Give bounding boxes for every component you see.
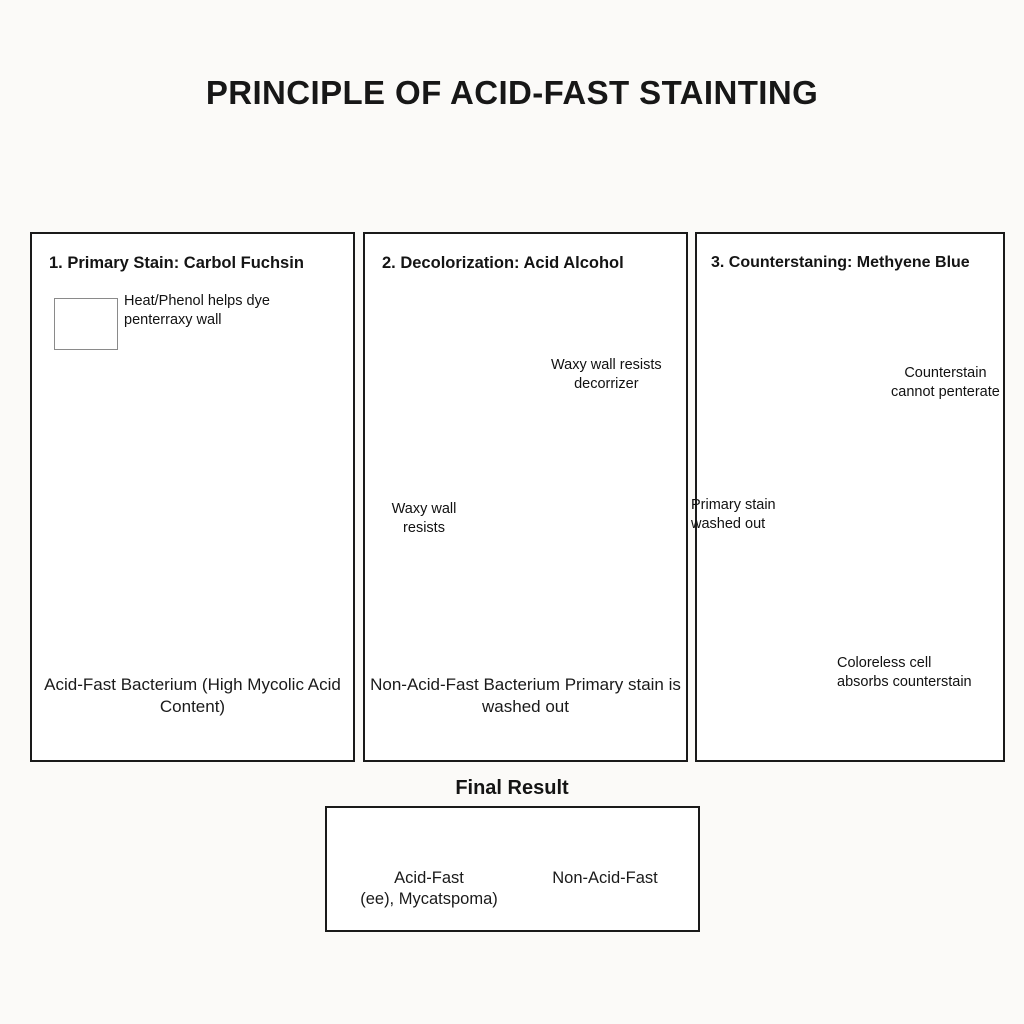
counterstain-cannot-penetrate-note: Counterstain cannot penterate [891,364,1000,402]
heat-phenol-icon-box [54,298,118,350]
heat-phenol-note: Heat/Phenol helps dye penterraxy wall [124,292,270,330]
panel-counterstaining[interactable]: 3. Counterstaning: Methyene Blue Counter… [695,232,1005,762]
waxy-wall-resists-note: Waxy wall resists [374,500,474,538]
colorless-cell-absorbs-counterstain-note: Coloreless cell absorbs counterstain [837,654,972,692]
final-acid-fast-label: Acid-Fast (ee), Mycatspoma) [339,868,519,911]
final-non-acid-fast-label: Non-Acid-Fast [517,868,693,889]
panel-1-title: 1. Primary Stain: Carbol Fuchsin [49,254,304,273]
final-result-title: Final Result [0,777,1024,800]
waxy-wall-resists-decolorizer-note: Waxy wall resists decorrizer [551,356,662,394]
panel-1-caption: Acid-Fast Bacterium (High Mycolic Acid C… [32,674,353,719]
panel-decolorization[interactable]: 2. Decolorization: Acid Alcohol Waxy wal… [363,232,688,762]
panel-2-caption: Non-Acid-Fast Bacterium Primary stain is… [365,674,686,719]
panel-2-title: 2. Decolorization: Acid Alcohol [382,254,624,273]
panel-3-title: 3. Counterstaning: Methyene Blue [711,254,970,272]
primary-stain-washed-out-note: Primary stain washed out [691,496,776,534]
final-result-box[interactable]: Acid-Fast (ee), Mycatspoma) Non-Acid-Fas… [325,806,700,932]
panel-primary-stain[interactable]: 1. Primary Stain: Carbol Fuchsin Heat/Ph… [30,232,355,762]
